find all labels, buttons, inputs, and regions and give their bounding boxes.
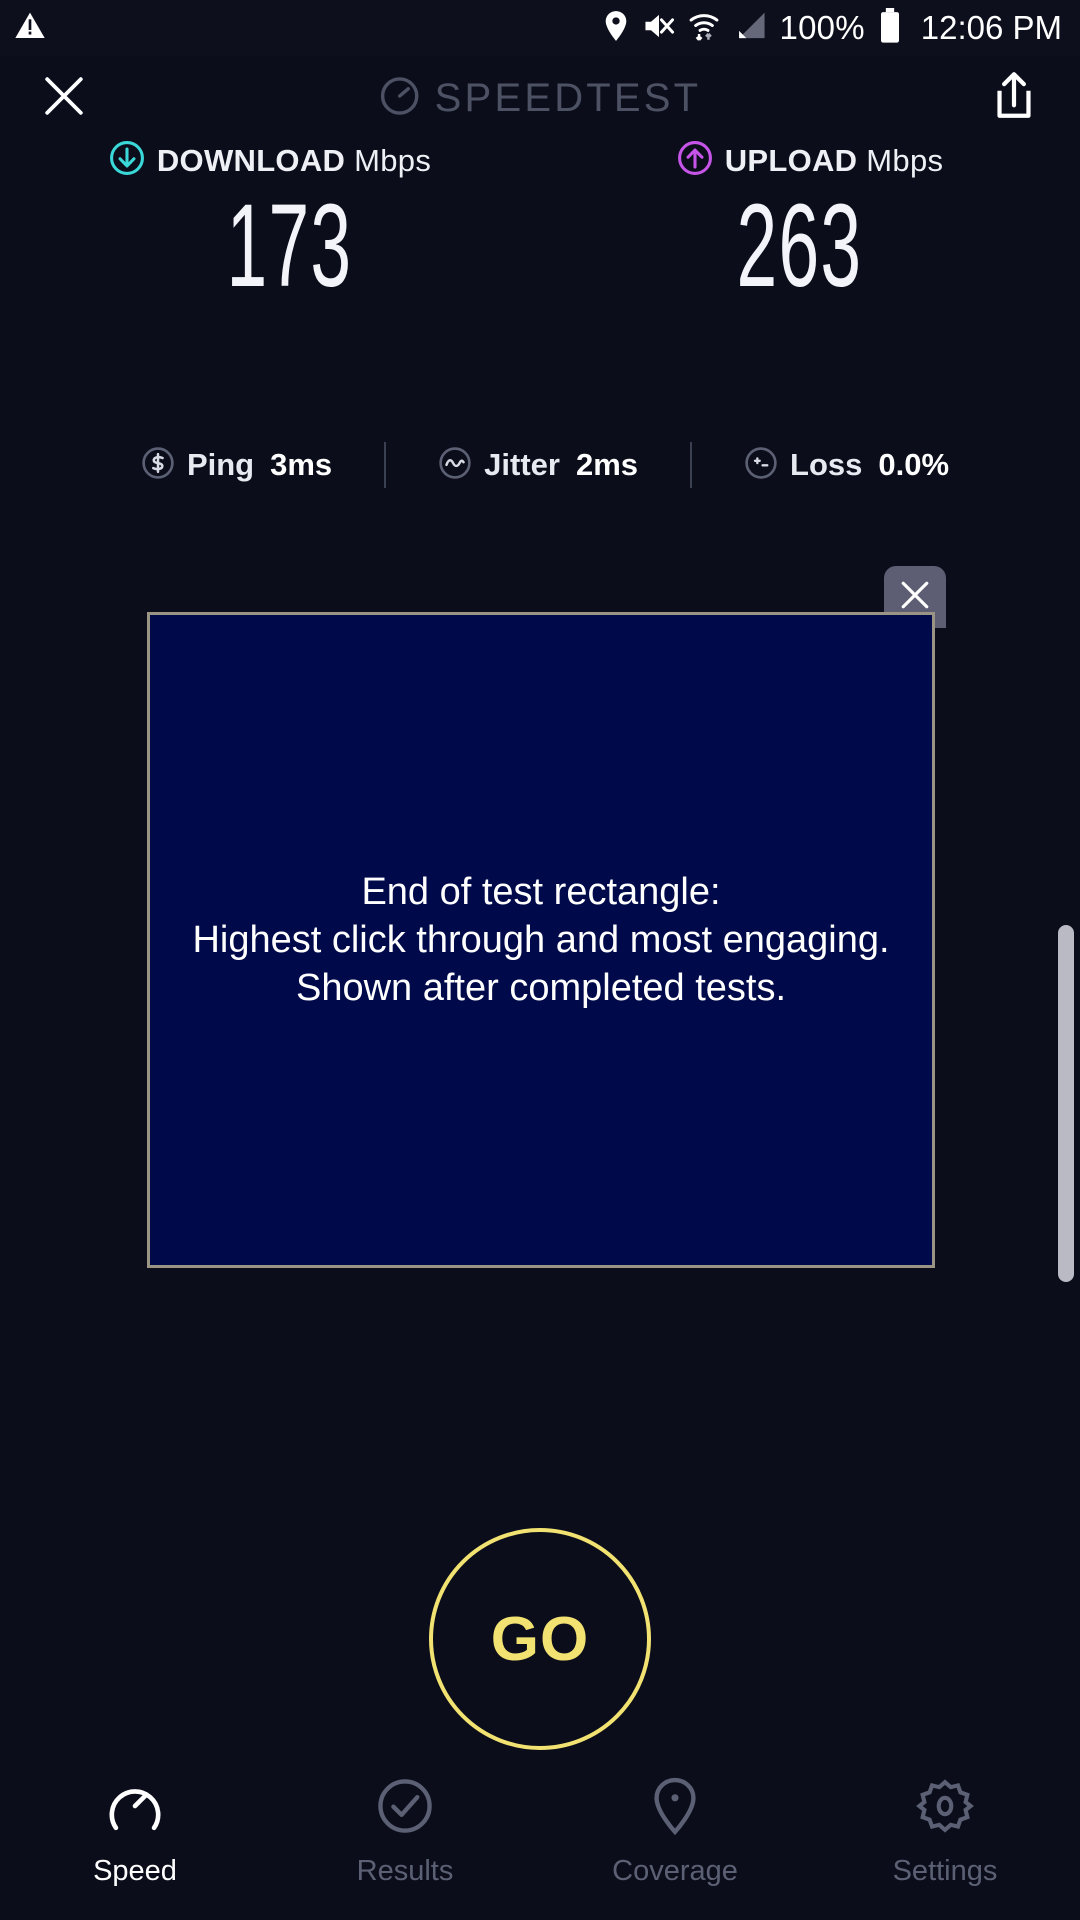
close-icon — [898, 578, 932, 617]
loss-value: 0.0% — [878, 447, 949, 483]
page-title: SPEEDTEST — [435, 76, 702, 121]
nav-item-coverage[interactable]: Coverage — [540, 1776, 810, 1888]
ad-line-3: Shown after completed tests. — [192, 964, 889, 1012]
download-result: DOWNLOAD Mbps 173 — [0, 140, 540, 305]
status-bar-right: 100% 12:06 PM — [602, 8, 1062, 49]
nav-item-results[interactable]: Results — [270, 1776, 540, 1888]
status-bar: 100% 12:06 PM — [0, 0, 1080, 56]
jitter-label: Jitter — [484, 447, 560, 483]
loss-label: Loss — [790, 447, 862, 483]
upload-result: UPLOAD Mbps 263 — [540, 140, 1080, 305]
divider — [690, 442, 692, 488]
scrollbar-thumb[interactable] — [1058, 925, 1074, 1282]
close-icon — [40, 72, 88, 125]
loss-icon — [744, 446, 778, 485]
nav-item-speed[interactable]: Speed — [0, 1776, 270, 1888]
battery-full-icon — [878, 8, 902, 49]
location-pin-icon — [602, 10, 630, 47]
speed-results-row: DOWNLOAD Mbps 173 UPLOAD Mbps 263 — [0, 140, 1080, 305]
nav-label-coverage: Coverage — [612, 1855, 738, 1888]
download-value: 173 — [226, 187, 352, 305]
ad-text: End of test rectangle: Highest click thr… — [182, 868, 899, 1013]
jitter-icon — [438, 446, 472, 485]
download-arrow-icon — [109, 140, 145, 181]
go-button-label: GO — [491, 1604, 589, 1675]
speedometer-icon — [105, 1776, 165, 1841]
check-circle-icon — [375, 1776, 435, 1841]
ad-line-1: End of test rectangle: — [192, 868, 889, 916]
upload-arrow-icon — [677, 140, 713, 181]
battery-percent-label: 100% — [780, 9, 865, 47]
volume-mute-icon — [643, 11, 675, 46]
loss-metric: Loss 0.0% — [744, 446, 949, 485]
divider — [384, 442, 386, 488]
close-button[interactable] — [36, 70, 92, 126]
jitter-metric: Jitter 2ms — [438, 446, 638, 485]
nav-label-settings: Settings — [893, 1855, 998, 1888]
cellular-signal-icon — [733, 11, 767, 46]
nav-item-settings[interactable]: Settings — [810, 1776, 1080, 1888]
warning-triangle-icon — [14, 10, 46, 47]
ping-value: 3ms — [270, 447, 332, 483]
upload-value: 263 — [736, 187, 862, 305]
app-header: SPEEDTEST — [0, 56, 1080, 140]
share-icon — [991, 71, 1037, 126]
download-label: DOWNLOAD Mbps — [157, 143, 431, 179]
results-panel: DOWNLOAD Mbps 173 UPLOAD Mbps 263 — [0, 140, 1080, 305]
speedometer-icon — [379, 75, 421, 122]
download-header: DOWNLOAD Mbps — [109, 140, 431, 181]
jitter-value: 2ms — [576, 447, 638, 483]
nav-label-results: Results — [357, 1855, 454, 1888]
bottom-navigation: Speed Results Coverage Settings — [0, 1760, 1080, 1920]
wifi-icon — [688, 10, 720, 47]
ad-line-2: Highest click through and most engaging. — [192, 916, 889, 964]
app-brand: SPEEDTEST — [379, 75, 702, 122]
upload-header: UPLOAD Mbps — [677, 140, 944, 181]
clock-label: 12:06 PM — [921, 9, 1062, 47]
nav-label-speed: Speed — [93, 1855, 177, 1888]
status-bar-left — [14, 10, 46, 47]
gear-icon — [915, 1776, 975, 1841]
ping-label: Ping — [187, 447, 254, 483]
ping-icon — [141, 446, 175, 485]
share-button[interactable] — [986, 70, 1042, 126]
go-button[interactable]: GO — [429, 1528, 651, 1750]
network-quality-row: Ping 3ms Jitter 2ms Los — [0, 442, 1080, 488]
upload-label: UPLOAD Mbps — [725, 143, 944, 179]
ad-banner[interactable]: End of test rectangle: Highest click thr… — [147, 612, 935, 1268]
location-pin-icon — [645, 1776, 705, 1841]
ping-metric: Ping 3ms — [141, 446, 332, 485]
